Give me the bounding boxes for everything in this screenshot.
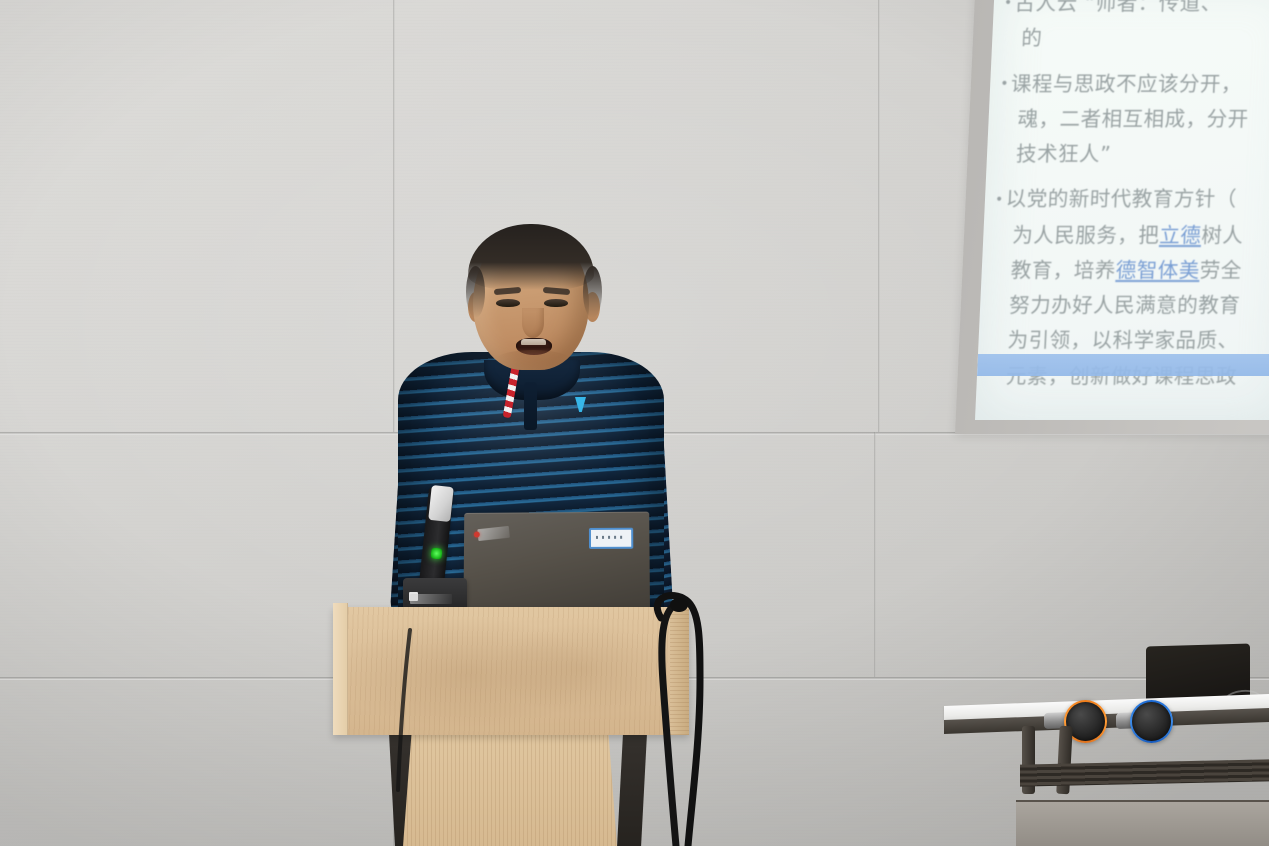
presenter-chin-shading (494, 350, 572, 372)
thinkpad-laptop (463, 512, 650, 617)
gooseneck-microphone-head (428, 485, 454, 522)
podium-edge-right (670, 609, 689, 735)
shirt-placket (524, 382, 537, 430)
presenter-eye-left (496, 299, 520, 307)
microphone-base-label (410, 594, 452, 604)
presenter-eye-right (544, 299, 568, 307)
podium-front-panel (333, 607, 689, 735)
presenter-hair (468, 224, 594, 290)
thinkpad-logo-icon (477, 526, 510, 541)
presenter-teeth (521, 339, 546, 345)
podium-column (403, 733, 617, 846)
podium-edge-left (333, 603, 348, 735)
laptop-asset-tag-sticker (589, 528, 633, 549)
podium-wood-grain (333, 607, 689, 735)
photograph-scene: •古人云 “师者：传道、 的 •课程与思政不应该分开， 魂，二者相互相成，分开 … (0, 0, 1269, 846)
microphone-status-led-icon (430, 547, 442, 559)
thinkpad-logo-dot-icon (474, 532, 480, 538)
presenter-nose (522, 308, 544, 338)
